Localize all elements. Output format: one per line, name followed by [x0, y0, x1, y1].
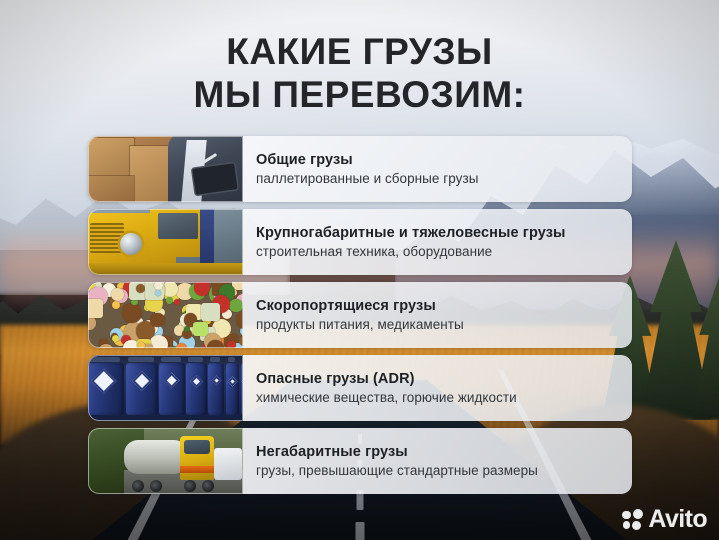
- avito-brand-text: Avito: [648, 507, 707, 532]
- cargo-thumbnail-outsize: [88, 428, 243, 494]
- cargo-thumbnail-perishable: [88, 282, 243, 348]
- cargo-text-block: Крупногабаритные и тяжеловесные грузы ст…: [243, 209, 632, 275]
- cargo-subtitle: грузы, превышающие стандартные размеры: [256, 462, 618, 480]
- cargo-title: Общие грузы: [256, 151, 618, 169]
- page-title: КАКИЕ ГРУЗЫ МЫ ПЕРЕВОЗИМ:: [0, 30, 719, 116]
- content-layer: КАКИЕ ГРУЗЫ МЫ ПЕРЕВОЗИМ: Общие грузы па…: [0, 0, 719, 540]
- list-item[interactable]: Общие грузы паллетированные и сборные гр…: [88, 136, 632, 202]
- list-item[interactable]: Крупногабаритные и тяжеловесные грузы ст…: [88, 209, 632, 275]
- avito-dots-logo-icon: [622, 509, 643, 530]
- cargo-title: Опасные грузы (ADR): [256, 370, 618, 388]
- cargo-type-list: Общие грузы паллетированные и сборные гр…: [88, 136, 632, 494]
- cargo-subtitle: химические вещества, горючие жидкости: [256, 389, 618, 407]
- cargo-thumbnail-general: [88, 136, 243, 202]
- avito-watermark: Avito: [622, 507, 707, 532]
- cargo-thumbnail-dangerous-adr: [88, 355, 243, 421]
- cargo-title: Крупногабаритные и тяжеловесные грузы: [256, 224, 618, 242]
- cargo-subtitle: продукты питания, медикаменты: [256, 316, 618, 334]
- cargo-text-block: Опасные грузы (ADR) химические вещества,…: [243, 355, 632, 421]
- cargo-subtitle: строительная техника, оборудование: [256, 243, 618, 261]
- cargo-subtitle: паллетированные и сборные грузы: [256, 170, 618, 188]
- list-item[interactable]: Негабаритные грузы грузы, превышающие ст…: [88, 428, 632, 494]
- list-item[interactable]: Скоропортящиеся грузы продукты питания, …: [88, 282, 632, 348]
- cargo-text-block: Скоропортящиеся грузы продукты питания, …: [243, 282, 632, 348]
- cargo-title: Скоропортящиеся грузы: [256, 297, 618, 315]
- cargo-text-block: Негабаритные грузы грузы, превышающие ст…: [243, 428, 632, 494]
- list-item[interactable]: Опасные грузы (ADR) химические вещества,…: [88, 355, 632, 421]
- cargo-text-block: Общие грузы паллетированные и сборные гр…: [243, 136, 632, 202]
- cargo-title: Негабаритные грузы: [256, 443, 618, 461]
- cargo-thumbnail-oversized-machinery: [88, 209, 243, 275]
